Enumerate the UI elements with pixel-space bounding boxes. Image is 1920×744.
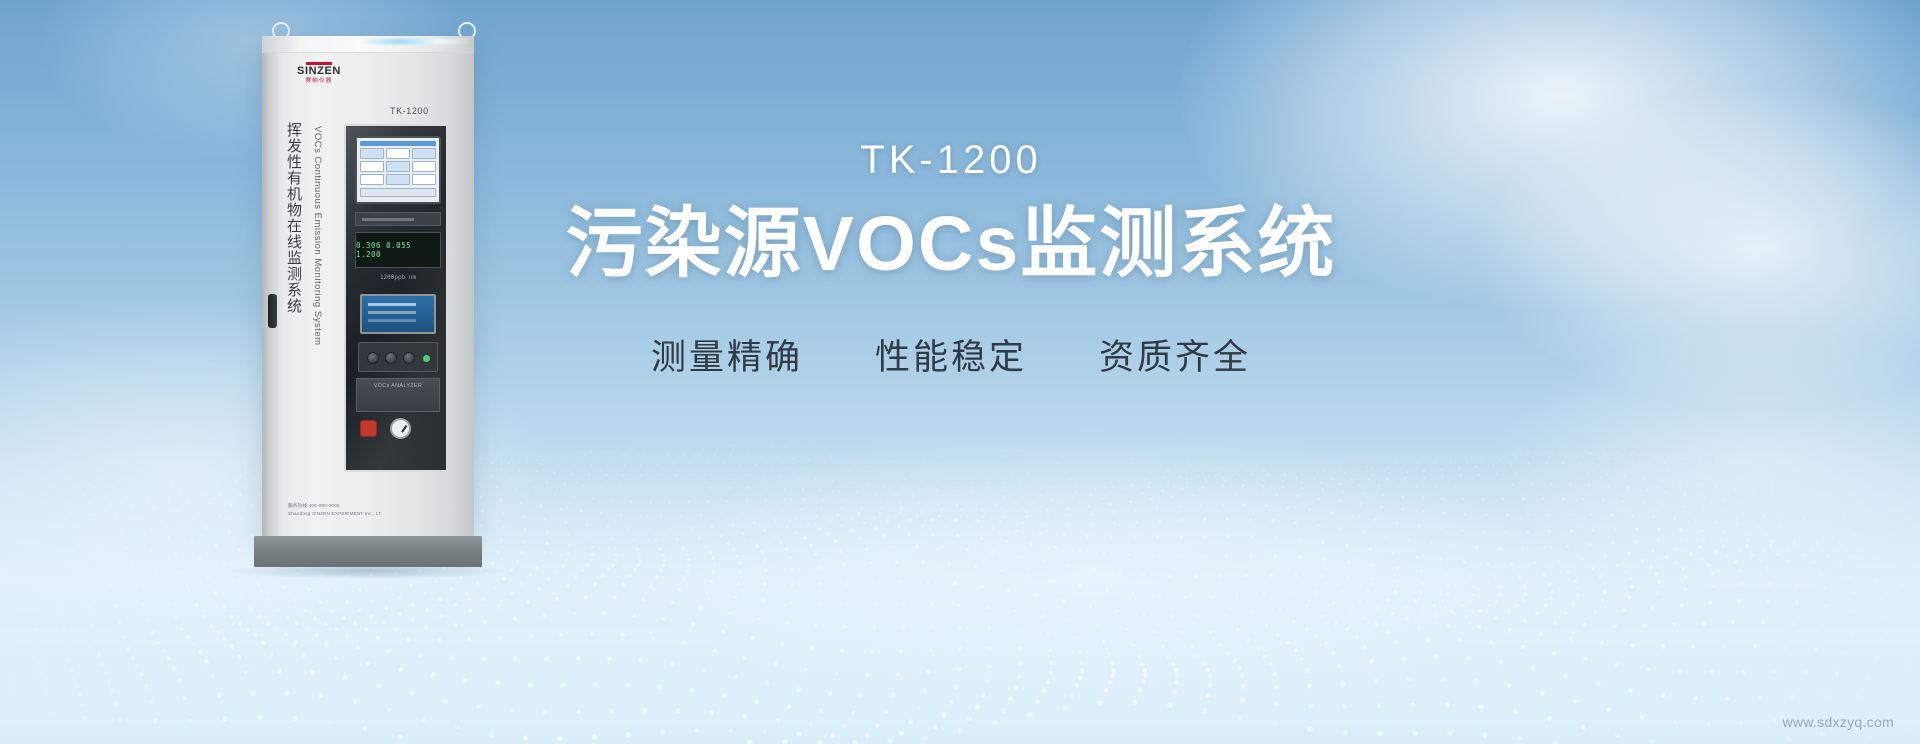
feature-item-3: 资质齐全 (1099, 329, 1251, 380)
feature-list: 测量精确 性能稳定 资质齐全 (556, 329, 1346, 380)
banner-headline: 污染源VOCs监测系统 (556, 206, 1346, 283)
light-streak (360, 39, 472, 44)
module-plate-label: VOCs ANALYZER (357, 383, 439, 389)
control-knob (403, 352, 415, 364)
hmi-cell (360, 148, 384, 159)
banner-copy-block: TK-1200 污染源VOCs监测系统 测量精确 性能稳定 资质齐全 (556, 140, 1346, 380)
cabinet-drop-shadow (232, 563, 504, 579)
readout-unit-label: 1200ppb nm (355, 274, 441, 281)
digital-readout: 0.306 0.055 1.200 (355, 232, 441, 268)
control-panel (358, 342, 438, 372)
status-led-indicator (423, 355, 430, 362)
product-cabinet: SINZEN 赛纳仪器 TK-1200 挥发性有机物在线监测系统 VOCs Co… (262, 22, 492, 567)
cloud-decoration (1480, 90, 1920, 410)
hmi-cell (412, 148, 436, 159)
hmi-cell (386, 148, 410, 159)
cabinet-glass-door: 0.306 0.055 1.200 1200ppb nm VOCs ANALYZ… (344, 124, 448, 472)
site-watermark: www.sdxzyq.com (1782, 714, 1894, 730)
hmi-cell (360, 174, 384, 185)
brand-logo: SINZEN 赛纳仪器 (286, 62, 352, 84)
hmi-title-bar (360, 141, 436, 146)
brand-name: SINZEN (286, 66, 352, 77)
cabinet-nameplate: 服务热线:400-000-0000 Shandong SINZEN EXPERI… (288, 502, 448, 518)
hmi-cell (386, 161, 410, 172)
feature-item-2: 性能稳定 (875, 329, 1027, 380)
cloud-decoration (640, 430, 1540, 730)
cabinet-model-label: TK-1200 (390, 106, 429, 116)
lower-module-plate: VOCs ANALYZER (356, 378, 440, 412)
analyzer-module-strip (355, 212, 441, 226)
cabinet-vertical-chinese-text: 挥发性有机物在线监测系统 (284, 122, 304, 314)
door-handle (268, 294, 277, 328)
feature-item-1: 测量精确 (651, 329, 803, 380)
hmi-cell (412, 174, 436, 185)
brand-name-cn: 赛纳仪器 (286, 79, 352, 85)
emergency-stop-button (360, 420, 377, 437)
pressure-gauge-icon (390, 418, 411, 439)
nameplate-line-1: 服务热线:400-000-0000 (288, 502, 448, 510)
product-model-number: TK-1200 (556, 140, 1346, 180)
hmi-touchscreen (355, 136, 441, 204)
lcd-display (360, 294, 436, 334)
cabinet-vertical-english-text: VOCs Continuous Emission Monitoring Syst… (312, 126, 323, 346)
cloud-decoration (1500, 330, 1920, 590)
control-knob (367, 352, 379, 364)
hmi-status-bar (360, 188, 436, 197)
control-knob (385, 352, 397, 364)
hmi-cell (412, 161, 436, 172)
cabinet-body: SINZEN 赛纳仪器 TK-1200 挥发性有机物在线监测系统 VOCs Co… (262, 36, 474, 536)
hmi-cell (360, 161, 384, 172)
product-banner: SINZEN 赛纳仪器 TK-1200 挥发性有机物在线监测系统 VOCs Co… (0, 0, 1920, 744)
hmi-cell (386, 174, 410, 185)
hmi-button-grid (360, 148, 436, 185)
nameplate-line-2: Shandong SINZEN EXPERIMENT Inc., LT (288, 510, 448, 518)
cabinet-top-cap (262, 36, 474, 53)
